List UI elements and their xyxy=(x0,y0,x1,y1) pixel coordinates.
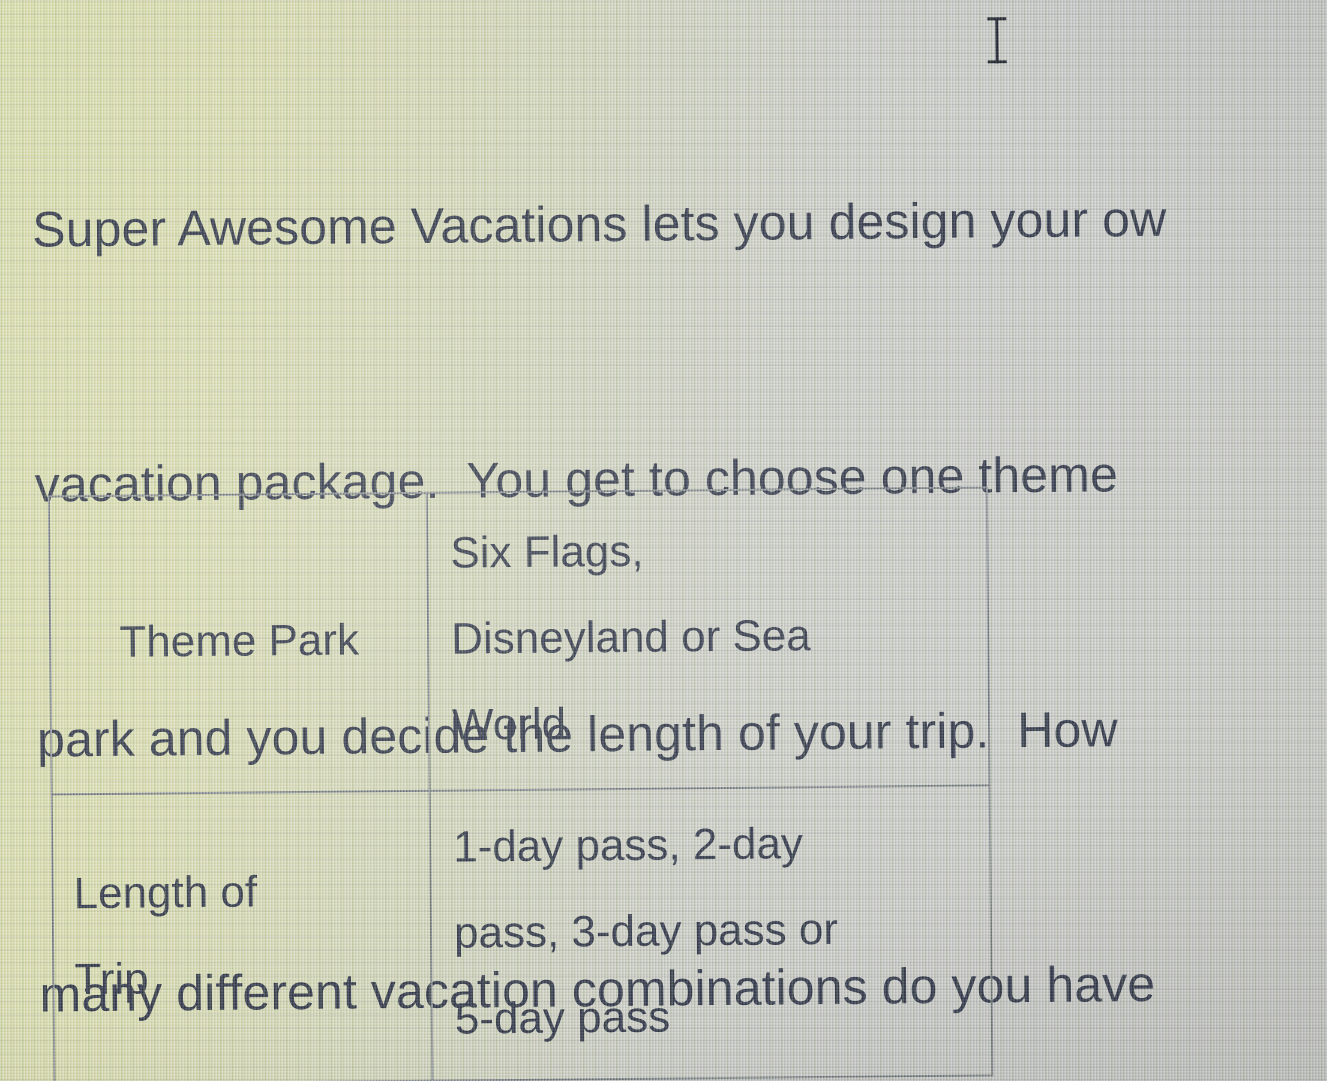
vacation-options-table: Theme Park Six Flags, Disneyland or Sea … xyxy=(48,486,994,1081)
lcd-screen-photo: Super Awesome Vacations lets you design … xyxy=(0,0,1327,1081)
table-row: Theme Park Six Flags, Disneyland or Sea … xyxy=(49,487,990,794)
problem-line-1: Super Awesome Vacations lets you design … xyxy=(32,175,1327,273)
table-cell-length-of-trip-label: Length of Trip xyxy=(52,791,433,1081)
document-plane: Super Awesome Vacations lets you design … xyxy=(0,0,1327,1081)
table-cell-length-of-trip-options: 1-day pass, 2-day pass, 3-day pass or 5-… xyxy=(430,785,993,1080)
table-row: Length of Trip 1-day pass, 2-day pass, 3… xyxy=(52,785,993,1081)
table-cell-theme-park-options: Six Flags, Disneyland or Sea World xyxy=(427,487,990,790)
table-cell-theme-park-label: Theme Park xyxy=(49,493,430,795)
